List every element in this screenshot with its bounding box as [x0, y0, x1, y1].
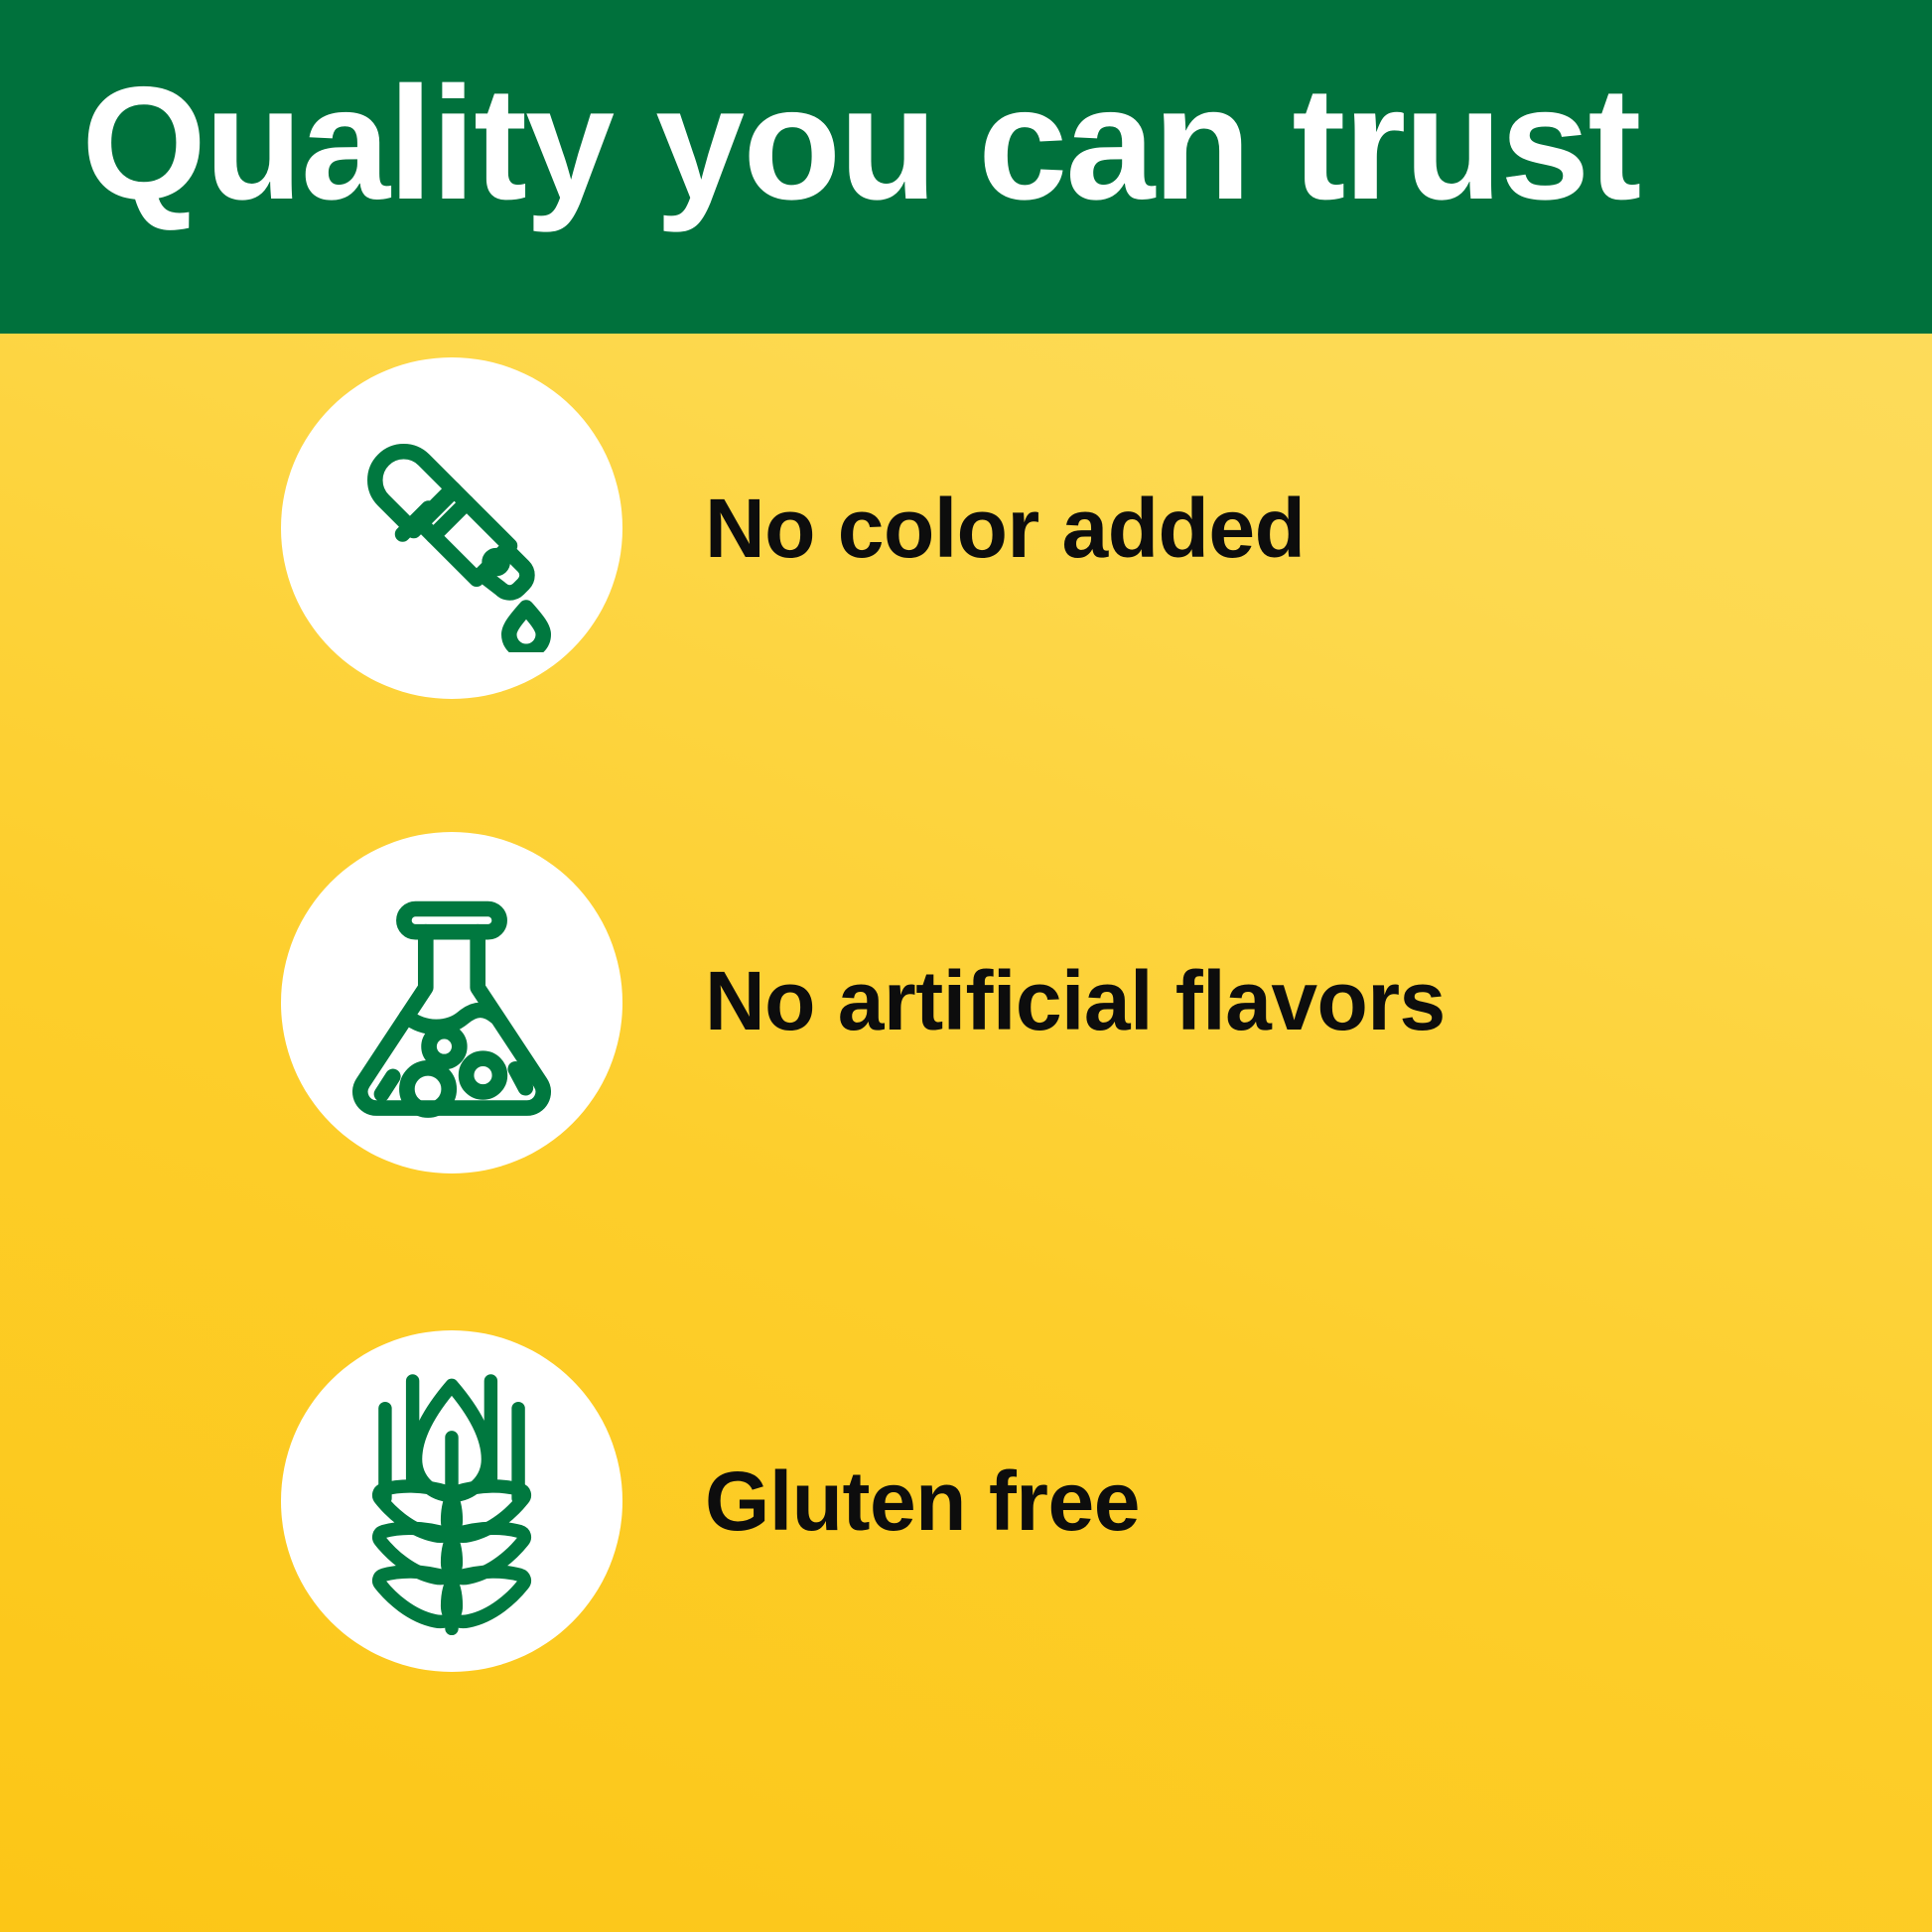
feature-list: No color added — [0, 334, 1932, 1932]
header-band: Quality you can trust — [0, 0, 1932, 334]
icon-badge — [281, 1330, 622, 1672]
wheat-icon — [346, 1362, 557, 1640]
feature-row: Gluten free — [0, 1259, 1932, 1676]
page-title: Quality you can trust — [81, 50, 1868, 238]
feature-row: No artificial flavors — [0, 794, 1932, 1211]
feature-label: Gluten free — [705, 1453, 1140, 1549]
quality-claims-poster: Quality you can trust — [0, 0, 1932, 1932]
feature-row: No color added — [0, 340, 1932, 757]
icon-badge — [281, 357, 622, 699]
icon-badge — [281, 832, 622, 1173]
flask-icon — [327, 878, 577, 1128]
feature-label: No color added — [705, 481, 1305, 576]
dropper-icon — [328, 404, 576, 652]
feature-label: No artificial flavors — [705, 953, 1446, 1048]
